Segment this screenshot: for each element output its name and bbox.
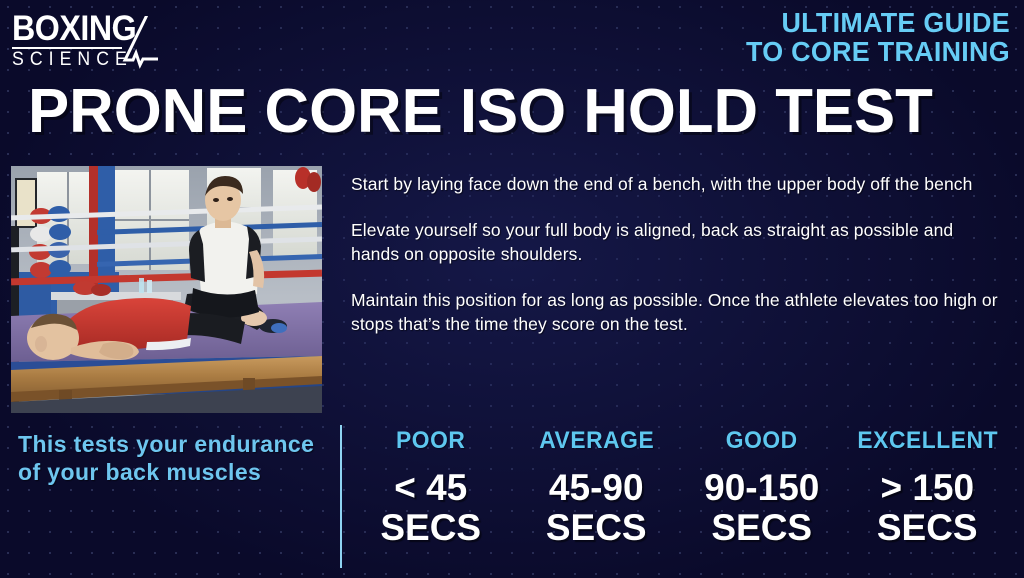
score-label-excellent: EXCELLENT [849,428,1006,454]
score-unit-average: SECS [514,508,680,548]
vertical-divider [340,425,342,568]
boxing-science-logo: BOXING SCIENCE [12,12,147,74]
guide-line-1: ULTIMATE GUIDE [746,8,1010,37]
score-label-poor: POOR [352,428,509,454]
score-unit-excellent: SECS [845,508,1011,548]
score-column-excellent: EXCELLENT > 150 SECS [845,428,1011,548]
score-label-good: GOOD [683,428,840,454]
score-unit-poor: SECS [348,508,514,548]
score-column-poor: POOR < 45 SECS [348,428,514,548]
gym-photo-illustration [11,166,322,413]
score-range-good: 90-150 [704,467,819,508]
instruction-step-3: Maintain this position for as long as po… [351,288,1001,336]
tagline-text: This tests your endurance of your back m… [18,430,330,486]
page-title: PRONE CORE ISO HOLD TEST [28,80,933,144]
score-column-average: AVERAGE 45-90 SECS [514,428,680,548]
score-unit-good: SECS [679,508,845,548]
instructions-list: Start by laying face down the end of a b… [351,172,1001,336]
score-range-excellent: > 150 [880,467,974,508]
instruction-step-2: Elevate yourself so your full body is al… [351,218,1001,266]
prone-core-iso-hold-demo-photo [11,166,322,413]
score-label-average: AVERAGE [518,428,675,454]
guide-line-2: TO CORE TRAINING [746,37,1010,66]
guide-series-heading: ULTIMATE GUIDE TO CORE TRAINING [735,8,1010,66]
score-value-good: 90-150 SECS [679,468,845,548]
score-value-poor: < 45 SECS [348,468,514,548]
score-scale-table: POOR < 45 SECS AVERAGE 45-90 SECS GOOD 9… [348,428,1010,548]
instruction-step-1: Start by laying face down the end of a b… [351,172,1001,196]
heartbeat-pulse-icon [116,16,158,78]
score-range-poor: < 45 [394,467,467,508]
score-value-excellent: > 150 SECS [845,468,1011,548]
score-value-average: 45-90 SECS [514,468,680,548]
infographic-poster: BOXING SCIENCE ULTIMATE GUIDE TO CORE TR… [0,0,1024,578]
score-range-average: 45-90 [549,467,644,508]
score-column-good: GOOD 90-150 SECS [679,428,845,548]
